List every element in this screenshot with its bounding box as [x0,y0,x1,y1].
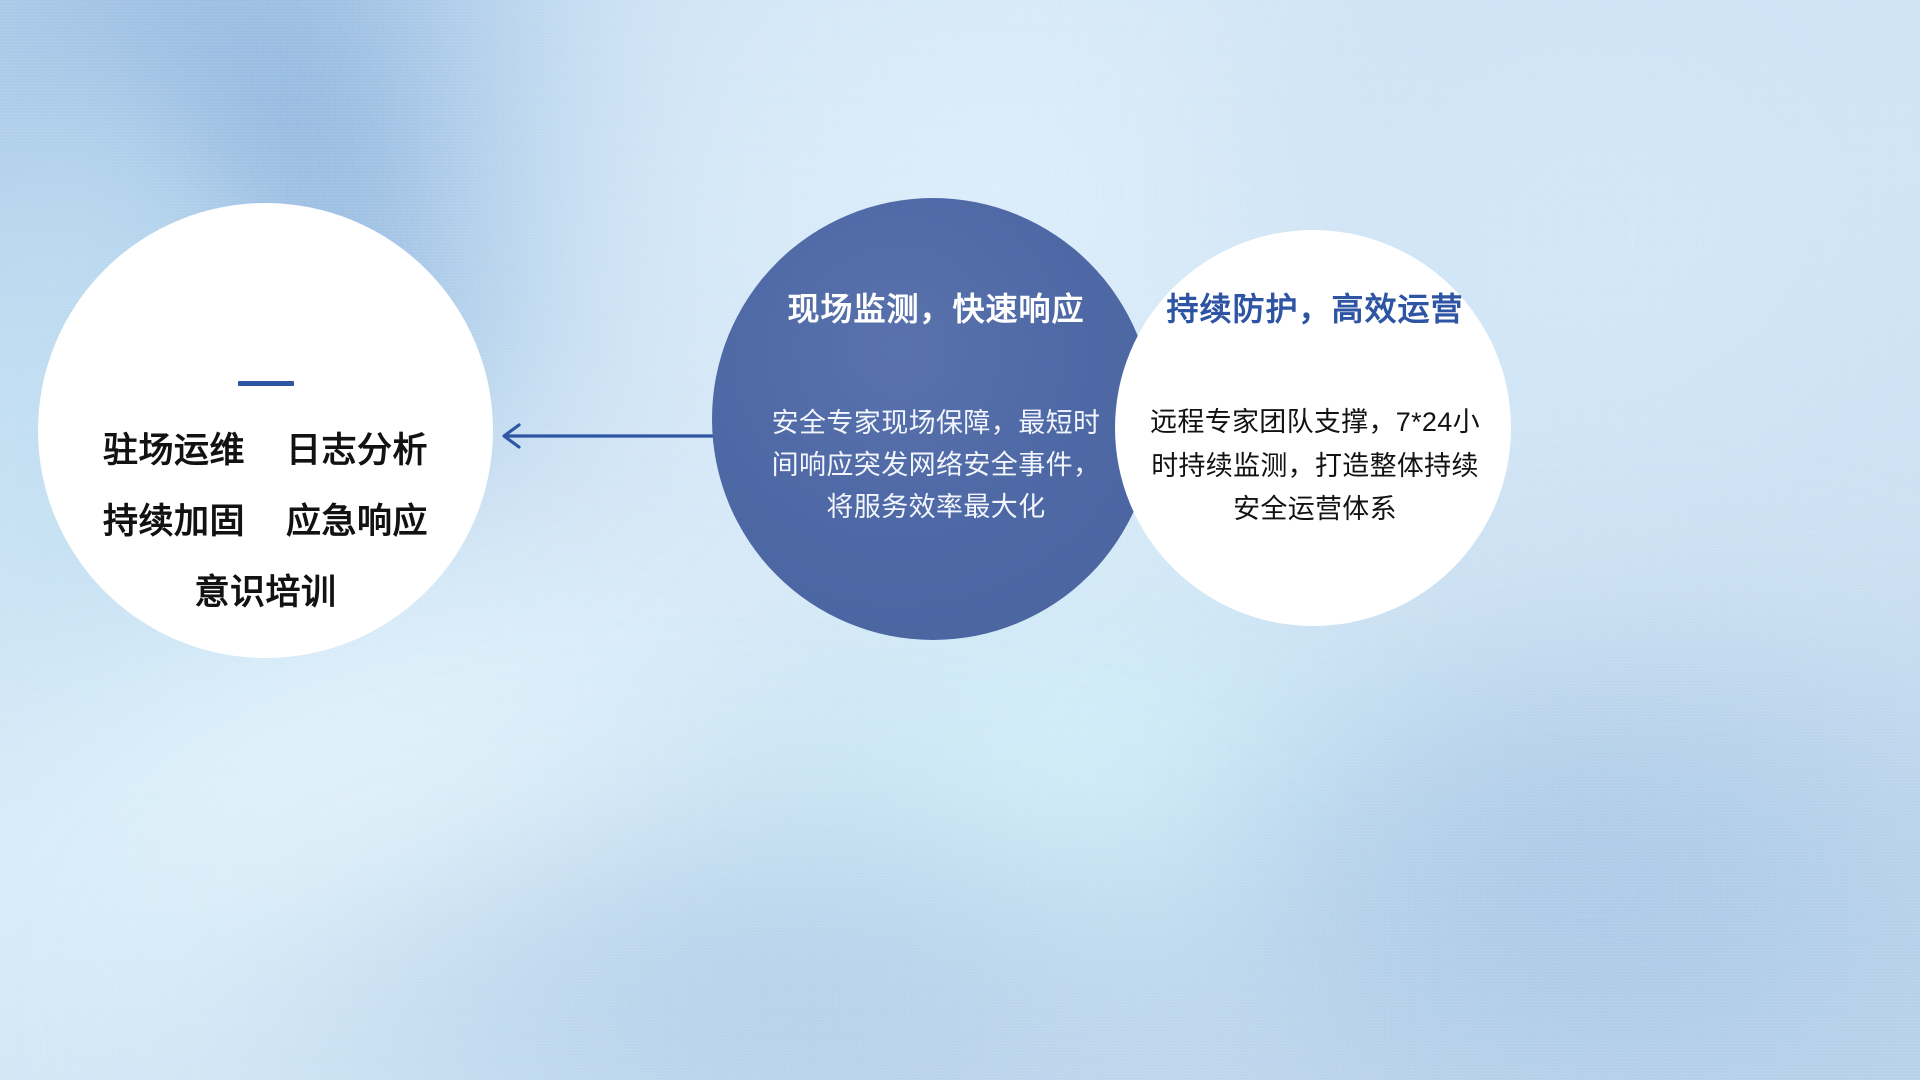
left-circle-line-2: 持续加固 应急响应 [38,504,493,539]
left-service-circle[interactable]: 驻场运维 日志分析 持续加固 应急响应 意识培训 [38,203,493,658]
middle-onsite-circle[interactable]: 现场监测，快速响应 安全专家现场保障，最短时间响应突发网络安全事件，将服务效率最… [712,198,1154,640]
left-circle-content: 驻场运维 日志分析 持续加固 应急响应 意识培训 [38,381,493,610]
right-operations-circle[interactable]: 持续防护，高效运营 远程专家团队支撑，7*24小时持续监测，打造整体持续安全运营… [1115,230,1511,626]
right-circle-body: 远程专家团队支撑，7*24小时持续监测，打造整体持续安全运营体系 [1137,401,1493,531]
right-circle-heading: 持续防护，高效运营 [1137,290,1493,328]
connector-arrow-svg [485,418,725,454]
connector-arrow [485,418,725,454]
left-circle-line-1: 驻场运维 日志分析 [38,433,493,468]
slide-canvas: 驻场运维 日志分析 持续加固 应急响应 意识培训 现场监测，快速响应 安全专家现… [0,0,1920,1080]
middle-circle-content: 现场监测，快速响应 安全专家现场保障，最短时间响应突发网络安全事件，将服务效率最… [732,290,1140,529]
middle-circle-heading: 现场监测，快速响应 [732,290,1140,328]
middle-circle-body: 安全专家现场保障，最短时间响应突发网络安全事件，将服务效率最大化 [732,403,1140,529]
divider-dash-icon [238,381,294,386]
right-circle-content: 持续防护，高效运营 远程专家团队支撑，7*24小时持续监测，打造整体持续安全运营… [1137,290,1493,531]
left-circle-line-3: 意识培训 [38,575,493,610]
